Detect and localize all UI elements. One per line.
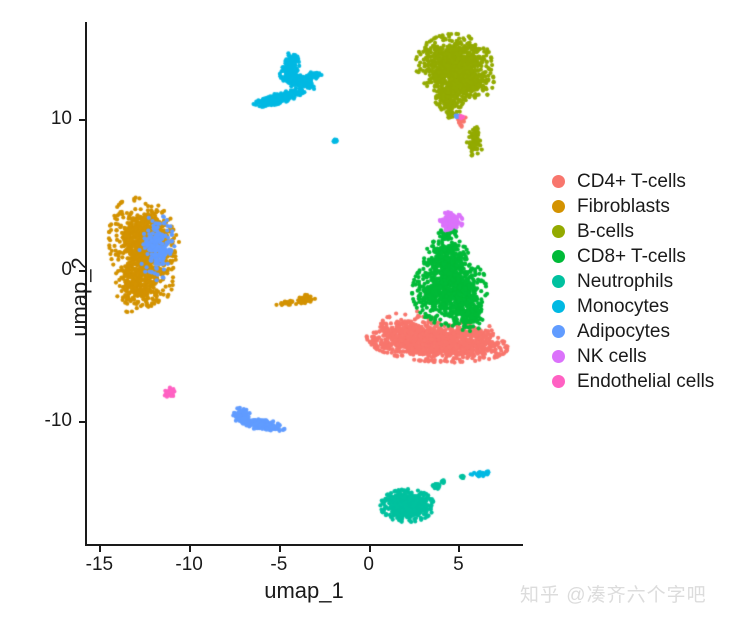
legend-item-label: Endothelial cells [577,372,714,391]
scatter-canvas [85,22,523,545]
plot-area [85,22,523,545]
y-tick-label: -10 [45,410,72,432]
watermark: 知乎 @凑齐六个字吧 [520,580,707,607]
legend: CD4+ T-cellsFibroblastsB-cellsCD8+ T-cel… [552,170,714,392]
x-tick-mark [369,546,371,552]
legend-item[interactable]: Fibroblasts [552,195,714,217]
x-tick-mark [279,546,281,552]
legend-item[interactable]: Adipocytes [552,320,714,342]
umap-scatter-figure: -15-10-505100-10 umap_1 umap_2 CD4+ T-ce… [0,0,750,620]
legend-color-dot-icon [552,275,565,288]
x-tick-mark [458,546,460,552]
legend-color-dot-icon [552,325,565,338]
legend-color-dot-icon [552,200,565,213]
legend-item-label: Monocytes [577,297,669,316]
x-tick-mark [99,546,101,552]
legend-item[interactable]: B-cells [552,220,714,242]
legend-item[interactable]: NK cells [552,345,714,367]
legend-item[interactable]: CD4+ T-cells [552,170,714,192]
scatter-points [85,22,523,545]
legend-item[interactable]: Endothelial cells [552,370,714,392]
legend-color-dot-icon [552,375,565,388]
x-tick-label: -10 [175,554,202,576]
legend-color-dot-icon [552,175,565,188]
x-tick-mark [189,546,191,552]
y-axis-label: umap_2 [67,197,93,397]
legend-item-label: Fibroblasts [577,197,670,216]
legend-item-label: Adipocytes [577,322,670,341]
x-axis-label: umap_1 [85,578,523,604]
legend-item-label: CD8+ T-cells [577,247,686,266]
legend-item-label: NK cells [577,347,647,366]
x-tick-label: 0 [363,554,374,576]
legend-color-dot-icon [552,225,565,238]
legend-item-label: CD4+ T-cells [577,172,686,191]
x-tick-label: -15 [86,554,113,576]
legend-item[interactable]: Monocytes [552,295,714,317]
x-tick-label: -5 [270,554,287,576]
legend-item-label: B-cells [577,222,634,241]
legend-item[interactable]: CD8+ T-cells [552,245,714,267]
y-tick-label: 10 [51,108,72,130]
legend-item[interactable]: Neutrophils [552,270,714,292]
legend-color-dot-icon [552,300,565,313]
legend-color-dot-icon [552,350,565,363]
legend-color-dot-icon [552,250,565,263]
x-tick-label: 5 [453,554,464,576]
legend-item-label: Neutrophils [577,272,673,291]
